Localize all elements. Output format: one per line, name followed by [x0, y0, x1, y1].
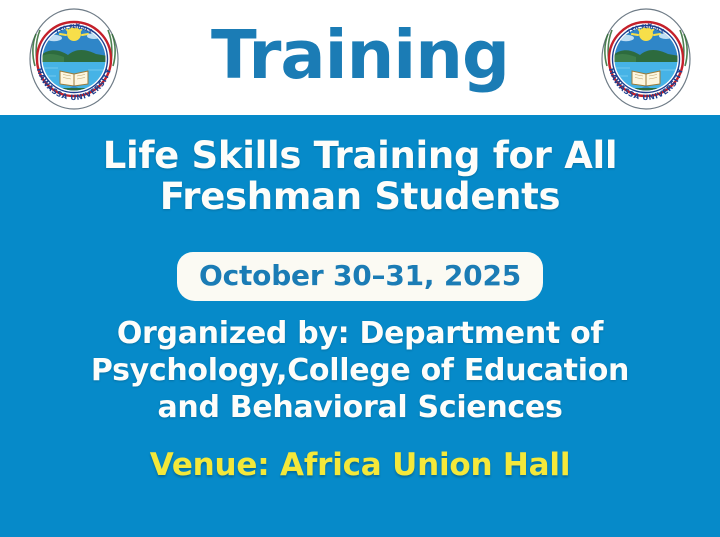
event-date-container: October 30–31, 2025 — [0, 252, 720, 301]
poster-header: እውነት ሃዋሳ ዩኒቨርሲቲ HAWASSA UNIVERSITY Train… — [0, 0, 720, 115]
university-seal-right-icon: እውነት ሃዋሳ ዩኒቨርሲቲ HAWASSA UNIVERSITY — [594, 4, 698, 112]
page-title: Training — [126, 22, 594, 89]
venue-text: Venue: Africa Union Hall — [0, 450, 720, 481]
headline-line-2: Freshman Students — [0, 176, 720, 217]
university-seal-left-icon: እውነት ሃዋሳ ዩኒቨርሲቲ HAWASSA UNIVERSITY — [22, 4, 126, 112]
poster-banner: Life Skills Training for All Freshman St… — [0, 115, 720, 537]
organizer-line-1: Organized by: Department of — [0, 315, 720, 352]
headline-line-1: Life Skills Training for All — [0, 135, 720, 176]
training-poster: እውነት ሃዋሳ ዩኒቨርሲቲ HAWASSA UNIVERSITY Train… — [0, 0, 720, 537]
organizer-block: Organized by: Department of Psychology,C… — [0, 315, 720, 427]
event-date-badge: October 30–31, 2025 — [177, 252, 543, 301]
organizer-line-3: and Behavioral Sciences — [0, 389, 720, 426]
headline: Life Skills Training for All Freshman St… — [0, 135, 720, 218]
organizer-line-2: Psychology,College of Education — [0, 352, 720, 389]
